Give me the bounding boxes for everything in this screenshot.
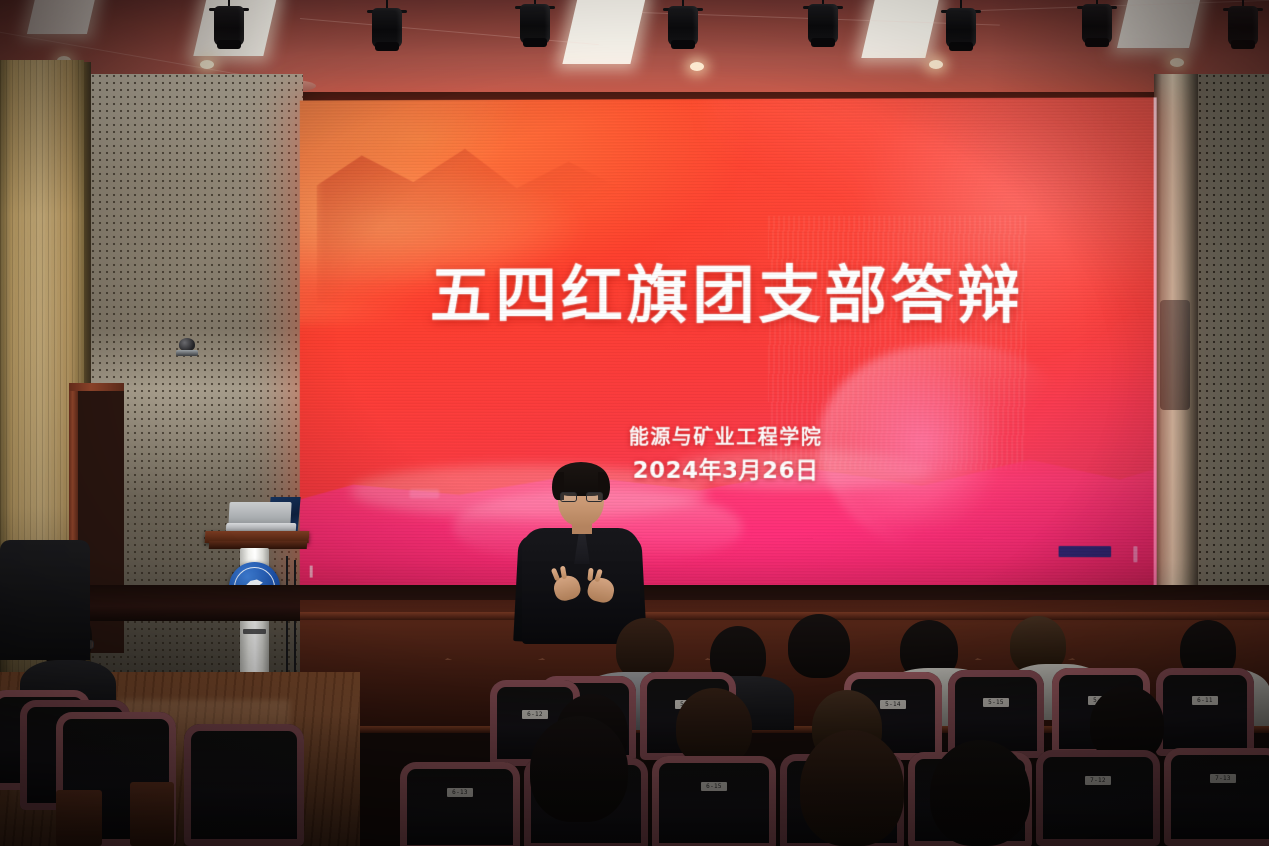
ceiling-downlight [690,62,704,71]
ceiling-downlight [1170,58,1184,67]
audience-head-foreground [930,740,1030,846]
seat-armrest [130,782,174,846]
presenter [516,462,644,642]
ptz-camera-icon [176,338,198,358]
seat-number: 6-12 [522,710,548,719]
ceiling-panel-light [27,0,97,34]
audience-head [676,688,752,766]
ceiling-seam [980,0,1269,11]
door-header [69,383,124,391]
ceiling-seam [300,18,599,45]
ceiling-panel-light [562,0,645,64]
led-right-edge-highlight [1154,97,1157,588]
ceiling-downlight [200,60,214,69]
stage-spotlight [212,0,246,48]
led-vignette [300,97,1157,588]
glasses-icon [586,492,603,502]
stage-spotlight [1226,0,1260,48]
ceiling-seam [640,12,1000,26]
stage-spotlight [518,0,552,46]
wall-speaker [1160,300,1190,410]
audience-seat: 6-11 [1156,668,1254,756]
podium-brand-label [243,629,266,634]
seat-number: 6-15 [701,782,727,791]
front-row-sofa [0,540,90,660]
audience-head [616,618,674,680]
seat-number: 7-12 [1085,776,1111,785]
stage-spotlight [944,0,978,50]
led-display-screen: 五四红旗团支部答辩 能源与矿业工程学院 2024年3月26日 [300,97,1157,588]
photo-canvas: 消防设施 请勿移动 五四红旗团支部答辩 能源与矿业工程学院 2024年3月26日 [0,0,1269,846]
stage-spotlight [666,0,700,48]
ceiling-panel-light [861,0,938,58]
glasses-icon [560,492,577,502]
audience-seat: 6-15 [652,756,776,846]
audience-seat: 7-13 [1164,748,1269,846]
ceiling-downlight [929,60,943,69]
audience-seat: 7-12 [1036,750,1160,846]
seat-armrest [56,790,102,846]
seat-number: 5-14 [880,700,906,709]
audience-seat-foreground [184,724,304,846]
audience-head [788,614,850,678]
stage-spotlight [1080,0,1114,46]
ceiling-panel-light [1117,0,1201,48]
seat-number: 7-13 [1210,774,1236,783]
audience-head-foreground [530,716,628,822]
stage-spotlight [370,0,404,50]
seat-number: 6-13 [447,788,473,797]
seat-number: 6-11 [1192,696,1218,705]
seat-number: 5-15 [983,698,1009,707]
stage-spotlight [806,0,840,46]
audience-seat: 6-13 [400,762,520,846]
audience-head-foreground [800,730,904,846]
ceiling-panel-light [193,0,276,56]
